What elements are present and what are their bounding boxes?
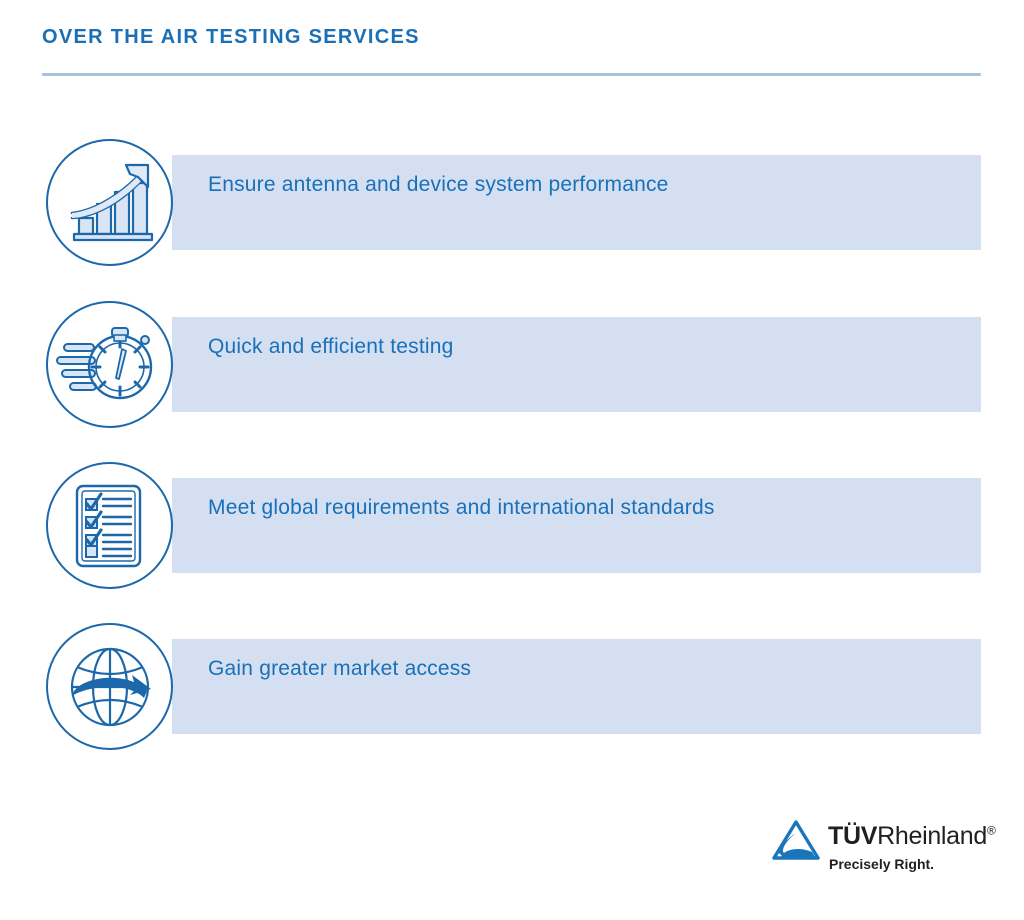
globe-orbit-arrow-icon <box>46 623 173 750</box>
logo-wordmark: TÜVRheinland® <box>828 822 996 851</box>
page-title: OVER THE AIR TESTING SERVICES <box>42 26 420 49</box>
registered-mark-icon: ® <box>987 824 996 838</box>
benefit-row: Meet global requirements and internation… <box>42 460 981 590</box>
benefit-row: Ensure antenna and device system perform… <box>42 137 981 267</box>
benefit-label: Gain greater market access <box>208 621 471 716</box>
slide-canvas: OVER THE AIR TESTING SERVICES Ensure ant… <box>0 0 1024 920</box>
benefit-row: Quick and efficient testing <box>42 299 981 429</box>
title-divider <box>42 73 981 76</box>
benefit-label: Ensure antenna and device system perform… <box>208 137 669 232</box>
logo-brand-regular: Rheinland <box>877 822 987 850</box>
checklist-clipboard-icon <box>46 462 173 589</box>
benefit-label: Quick and efficient testing <box>208 299 454 394</box>
tuv-rheinland-triangle-icon <box>772 820 820 865</box>
benefit-label: Meet global requirements and internation… <box>208 460 715 555</box>
logo-brand-bold: TÜV <box>828 822 877 850</box>
logo-tagline: Precisely Right. <box>829 856 934 872</box>
stopwatch-speed-icon <box>46 301 173 428</box>
benefit-row: Gain greater market access <box>42 621 981 751</box>
growth-bar-chart-arrow-icon <box>46 139 173 266</box>
tuv-rheinland-logo: TÜVRheinland® Precisely Right. <box>772 818 987 882</box>
